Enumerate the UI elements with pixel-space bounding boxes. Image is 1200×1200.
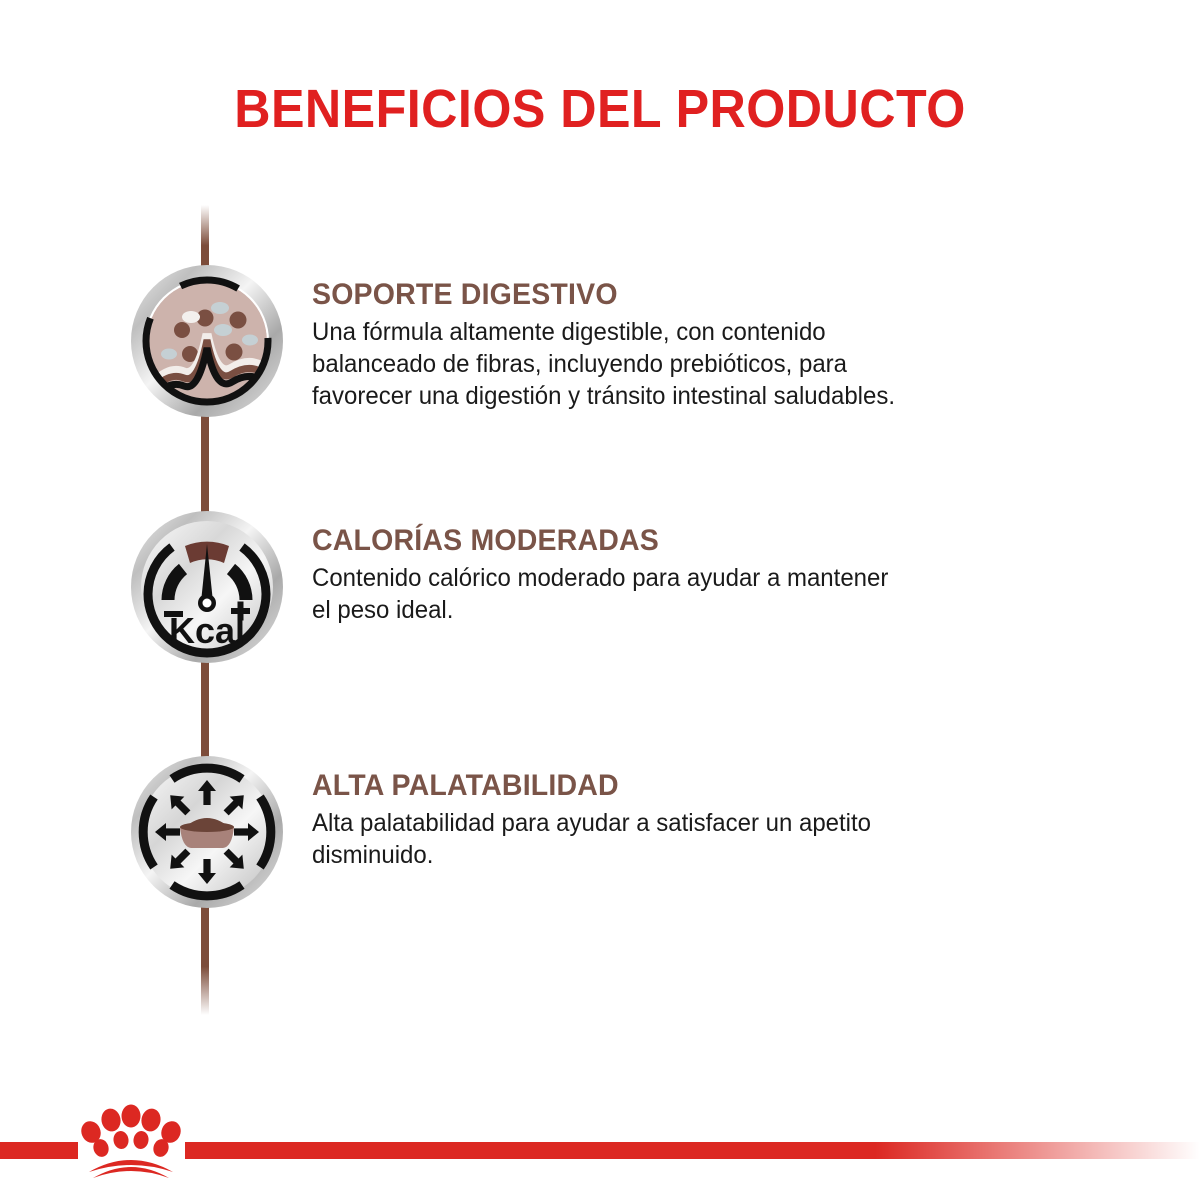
benefit-description-line: el peso ideal.	[312, 594, 1042, 626]
footer	[0, 1082, 1200, 1200]
benefit-heading: ALTA PALATABILIDAD	[312, 769, 1006, 803]
benefit-description: Contenido calórico moderado para ayudar …	[312, 562, 1042, 626]
high-palatability-icon	[128, 753, 286, 911]
moderate-calories-gauge-icon: Kcal	[128, 508, 286, 666]
benefit-description-line: balanceado de fibras, incluyendo prebiót…	[312, 348, 1042, 380]
benefit-text-moderate-calories: CALORÍAS MODERADAS Contenido calórico mo…	[312, 524, 1042, 626]
infographic-page: BENEFICIOS DEL PRODUCTO	[0, 0, 1200, 1200]
benefit-description: Alta palatabilidad para ayudar a satisfa…	[312, 807, 1042, 871]
benefit-text-digestive-support: SOPORTE DIGESTIVO Una fórmula altamente …	[312, 278, 1042, 412]
digestive-support-icon	[128, 262, 286, 420]
benefit-heading: SOPORTE DIGESTIVO	[312, 278, 1006, 312]
footer-rule-left	[0, 1142, 78, 1159]
benefit-text-high-palatability: ALTA PALATABILIDAD Alta palatabilidad pa…	[312, 769, 1042, 871]
benefit-item-high-palatability: ALTA PALATABILIDAD Alta palatabilidad pa…	[0, 753, 1200, 921]
benefit-description-line: disminuido.	[312, 839, 1042, 871]
benefit-description: Una fórmula altamente digestible, con co…	[312, 316, 1042, 412]
benefit-item-digestive-support: SOPORTE DIGESTIVO Una fórmula altamente …	[0, 262, 1200, 430]
kcal-label: Kcal	[169, 610, 245, 651]
benefit-description-line: Contenido calórico moderado para ayudar …	[312, 562, 1042, 594]
benefit-description-line: Una fórmula altamente digestible, con co…	[312, 316, 1042, 348]
benefit-description-line: favorecer una digestión y tránsito intes…	[312, 380, 1042, 412]
page-title: BENEFICIOS DEL PRODUCTO	[42, 78, 1158, 140]
benefit-item-moderate-calories: Kcal CALORÍAS MODERADAS Contenido calóri…	[0, 508, 1200, 676]
footer-rule-right	[185, 1142, 1200, 1159]
benefit-description-line: Alta palatabilidad para ayudar a satisfa…	[312, 807, 1042, 839]
benefit-heading: CALORÍAS MODERADAS	[312, 524, 1006, 558]
royal-canin-crown-logo	[73, 1102, 189, 1180]
